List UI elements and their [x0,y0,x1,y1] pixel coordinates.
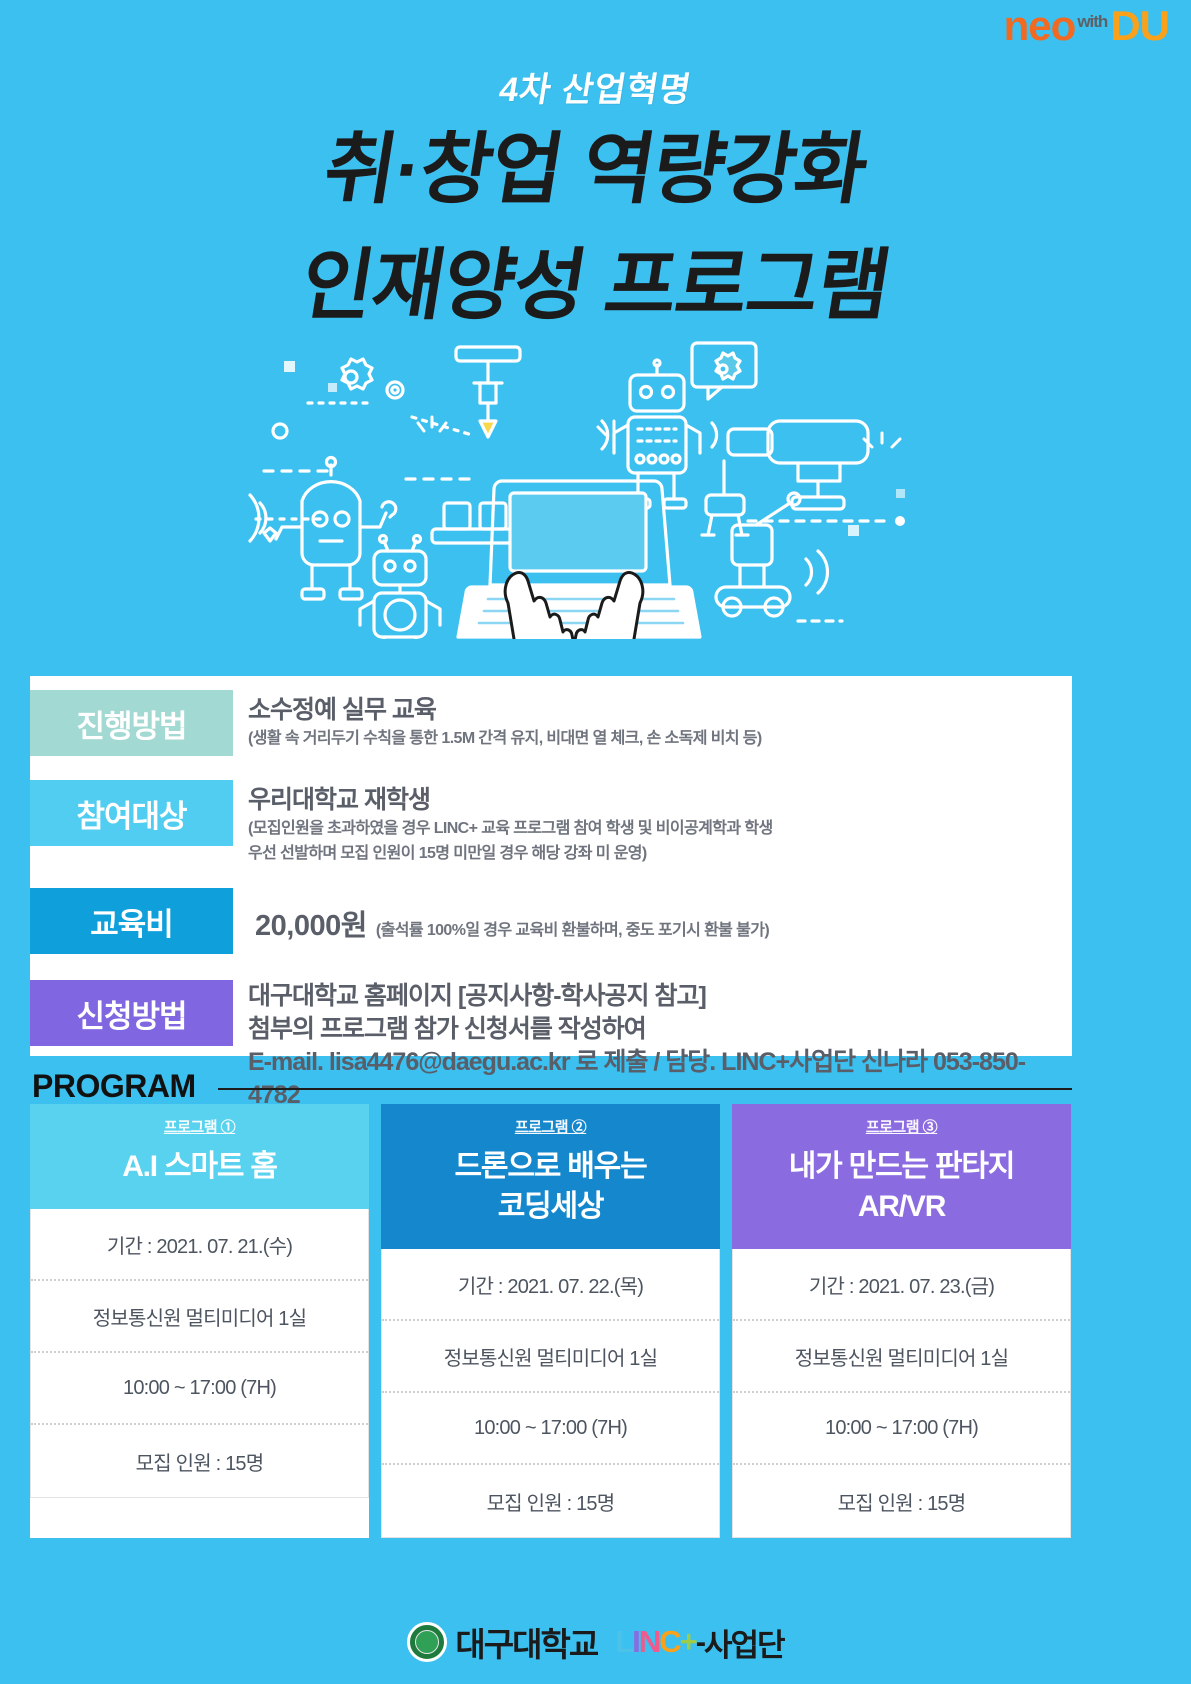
program-card-2-kicker: 프로그램 ② [381,1116,720,1137]
linc-korean-label: 사업단 [704,1620,784,1665]
linc-dash: - [696,1624,704,1660]
program-card-3-body: 기간 : 2021. 07. 23.(금) 정보통신원 멀티미디어 1실 10:… [732,1249,1071,1538]
poster-title-block: 4차 산업혁명 취·창업 역량강화 인재양성 프로그램 [0,0,1191,333]
program-card-3-title-line-2: AR/VR [732,1187,1071,1227]
info-method-sub: (생활 속 거리두기 수칙을 통한 1.5M 간격 유지, 비대면 열 체크, … [248,726,1072,751]
logo-du-text: DU [1110,8,1169,44]
program-card-2-title-line-1: 드론으로 배우는 [381,1147,720,1187]
program-card-1-quota: 모집 인원 : 15명 [31,1425,368,1497]
linc-letter-l: L [615,1624,632,1660]
industry-4-illustration [0,339,1191,649]
program-heading: PROGRAM [32,1068,1072,1105]
program-card-2-time: 10:00 ~ 17:00 (7H) [382,1393,719,1465]
program-card-list: 프로그램 ① A.I 스마트 홈 기간 : 2021. 07. 21.(수) 정… [30,1104,1072,1538]
linc-plus-logo: L I N C + - 사업단 [615,1620,783,1665]
program-card-3-time: 10:00 ~ 17:00 (7H) [733,1393,1070,1465]
daegu-university-logo: 대구대학교 [407,1618,597,1666]
program-card-3-title: 내가 만드는 판타지 AR/VR [732,1147,1071,1227]
program-card-3-header: 프로그램 ③ 내가 만드는 판타지 AR/VR [732,1104,1071,1249]
program-card-2-title: 드론으로 배우는 코딩세상 [381,1147,720,1227]
program-card-2-body: 기간 : 2021. 07. 22.(목) 정보통신원 멀티미디어 1실 10:… [381,1249,720,1538]
program-card-2-period: 기간 : 2021. 07. 22.(목) [382,1249,719,1321]
program-card-3-kicker: 프로그램 ③ [732,1116,1071,1137]
program-card-3-quota: 모집 인원 : 15명 [733,1465,1070,1537]
info-label-method: 진행방법 [30,690,233,756]
program-card-1-time: 10:00 ~ 17:00 (7H) [31,1353,368,1425]
program-card-3[interactable]: 프로그램 ③ 내가 만드는 판타지 AR/VR 기간 : 2021. 07. 2… [732,1104,1071,1538]
program-card-1-period: 기간 : 2021. 07. 21.(수) [31,1209,368,1281]
program-heading-text: PROGRAM [32,1068,196,1105]
logo-with-text: with [1077,13,1107,30]
title-line-2: 인재양성 프로그램 [0,237,1191,333]
info-target-head: 우리대학교 재학생 [248,784,1072,816]
program-card-1[interactable]: 프로그램 ① A.I 스마트 홈 기간 : 2021. 07. 21.(수) 정… [30,1104,369,1538]
program-card-2-quota: 모집 인원 : 15명 [382,1465,719,1537]
linc-plus-sign: + [680,1624,696,1660]
info-table: 진행방법 소수정예 실무 교육 (생활 속 거리두기 수칙을 통한 1.5M 간… [30,676,1072,1056]
illustration-svg [236,339,956,639]
program-card-2-title-line-2: 코딩세상 [381,1187,720,1227]
university-seal-inner [415,1630,439,1654]
info-target-sub-2: 우선 선발하며 모집 인원이 15명 미만일 경우 해당 강좌 미 운영) [248,841,1072,866]
info-body-fee: 20,000원 (출석률 100%일 경우 교육비 환불하며, 중도 포기시 환… [233,888,1072,944]
poster-root: { "brand": { "neo": "neo", "with": "with… [0,0,1191,1684]
program-card-2-place: 정보통신원 멀티미디어 1실 [382,1321,719,1393]
neo-with-du-logo: neo with DU [1004,8,1169,44]
program-heading-rule [218,1088,1072,1090]
program-card-1-title: A.I 스마트 홈 [30,1147,369,1187]
title-superline: 4차 산업혁명 [496,62,696,111]
title-line-1: 취·창업 역량강화 [0,121,1191,217]
program-card-1-kicker: 프로그램 ① [30,1116,369,1137]
logo-neo-text: neo [1004,8,1076,44]
program-card-1-header: 프로그램 ① A.I 스마트 홈 [30,1104,369,1209]
footer-logos: 대구대학교 L I N C + - 사업단 [0,1618,1191,1666]
info-row-fee: 교육비 20,000원 (출석률 100%일 경우 교육비 환불하며, 중도 포… [30,888,1072,954]
fee-amount: 20,000원 [255,902,367,944]
info-target-sub-1: (모집인원을 초과하였을 경우 LINC+ 교육 프로그램 참여 학생 및 비이… [248,816,1072,841]
info-label-target: 참여대상 [30,780,233,846]
apply-line-2: 첨부의 프로그램 참가 신청서를 작성하여 [248,1013,1072,1046]
program-card-3-title-line-1: 내가 만드는 판타지 [732,1147,1071,1187]
linc-letter-n: N [639,1624,659,1660]
program-card-2[interactable]: 프로그램 ② 드론으로 배우는 코딩세상 기간 : 2021. 07. 22.(… [381,1104,720,1538]
university-name: 대구대학교 [455,1618,597,1666]
fee-line: 20,000원 (출석률 100%일 경우 교육비 환불하며, 중도 포기시 환… [248,902,1072,944]
program-card-3-place: 정보통신원 멀티미디어 1실 [733,1321,1070,1393]
linc-letter-i: I [632,1624,639,1660]
program-card-2-header: 프로그램 ② 드론으로 배우는 코딩세상 [381,1104,720,1249]
program-card-1-place: 정보통신원 멀티미디어 1실 [31,1281,368,1353]
university-seal-icon [407,1622,447,1662]
info-label-apply: 신청방법 [30,980,233,1046]
info-row-target: 참여대상 우리대학교 재학생 (모집인원을 초과하였을 경우 LINC+ 교육 … [30,780,1072,866]
info-body-target: 우리대학교 재학생 (모집인원을 초과하였을 경우 LINC+ 교육 프로그램 … [233,780,1072,866]
program-card-3-period: 기간 : 2021. 07. 23.(금) [733,1249,1070,1321]
info-label-fee: 교육비 [30,888,233,954]
apply-line-1: 대구대학교 홈페이지 [공지사항-학사공지 참고] [248,980,1072,1013]
info-row-method: 진행방법 소수정예 실무 교육 (생활 속 거리두기 수칙을 통한 1.5M 간… [30,690,1072,756]
info-method-head: 소수정예 실무 교육 [248,694,1072,726]
program-card-1-body: 기간 : 2021. 07. 21.(수) 정보통신원 멀티미디어 1실 10:… [30,1209,369,1498]
linc-letter-c: C [659,1624,679,1660]
fee-note: (출석률 100%일 경우 교육비 환불하며, 중도 포기시 환불 불가) [376,916,769,940]
info-body-method: 소수정예 실무 교육 (생활 속 거리두기 수칙을 통한 1.5M 간격 유지,… [233,690,1072,751]
